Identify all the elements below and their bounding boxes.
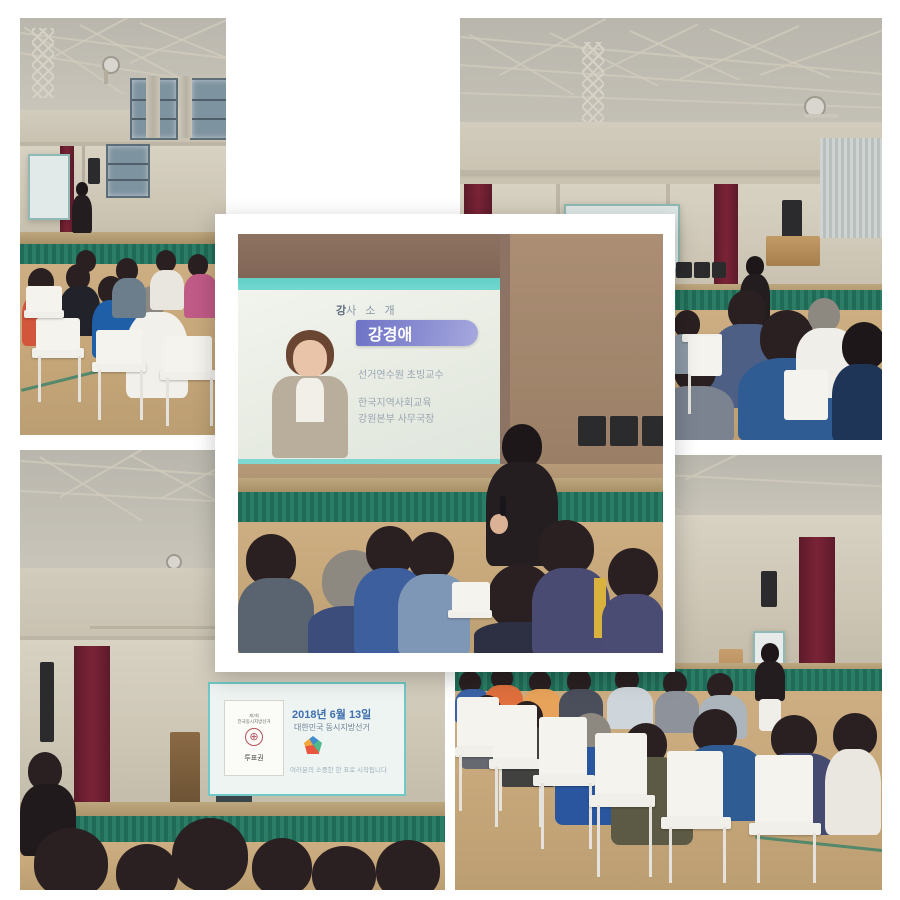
ballot-voting-label: 투표권 [244, 753, 263, 763]
stage-chair [642, 416, 663, 446]
gym-scene-top-left [20, 18, 226, 435]
audience-head [842, 322, 882, 370]
chair-leg [78, 356, 81, 402]
slide-heading-rest: 사 소 개 [346, 305, 397, 317]
upper-wall [460, 122, 882, 184]
folding-chair-back [595, 733, 647, 799]
folding-chair-back [452, 582, 490, 612]
audience-body [112, 278, 146, 318]
folding-chair-back [539, 717, 587, 779]
audience-body [825, 749, 881, 835]
chair-leg [589, 783, 592, 849]
lecturer-portrait-photo [268, 330, 350, 458]
presenter-head [761, 643, 779, 663]
chair-leg [649, 805, 652, 877]
podium [766, 236, 820, 266]
lecturer-name-chip: 강경애 [356, 320, 478, 346]
presenter-body [755, 661, 785, 701]
slide-top-band [238, 278, 500, 290]
stage-curtain [74, 646, 110, 816]
projected-slide-ballot: 제7회 전국동시지방선거 ⊕ 투표권 2018년 6월 13일 대한민국 동시지… [208, 682, 406, 796]
folding-chair-back [688, 336, 722, 376]
chair-leg [757, 833, 760, 883]
presenter-head [76, 182, 88, 196]
chair-leg [210, 378, 213, 426]
ballot-card-graphic: 제7회 전국동시지방선거 ⊕ 투표권 [224, 700, 284, 776]
slide-footer-text: 여러분의 소중한 한 표로 시작됩니다 [290, 764, 387, 774]
scissor-lift-mount [32, 28, 54, 98]
chair-leg [38, 356, 41, 402]
chair-leg [688, 374, 691, 414]
chair-leg [495, 767, 498, 827]
scissor-lift-mount [582, 42, 604, 128]
audience-head [188, 254, 208, 276]
folding-chair-back [493, 705, 537, 763]
folding-chair-back [26, 286, 62, 312]
folding-chair-back [96, 330, 142, 364]
projected-slide-speaker-intro: 강사 소 개 강경애 선거연수원 초빙교수 한국지역사회교육 강원본부 사무국장 [238, 278, 500, 464]
audience-body [238, 578, 314, 653]
slide-subtitle-text: 대한민국 동시지방선거 [294, 722, 370, 733]
stage-curtain [799, 537, 835, 667]
window [190, 78, 226, 140]
camera-mount [804, 114, 838, 118]
audience-head [76, 250, 96, 272]
stage-chair [578, 416, 606, 446]
audience-head [808, 298, 840, 332]
stage-chair [712, 262, 726, 278]
presenter-microphone [500, 496, 506, 516]
slide-heading: 강사 소 개 [336, 302, 398, 318]
collage-photo-top-left[interactable]: Audience seated on white folding chairs … [20, 18, 226, 435]
audience-body [602, 594, 663, 653]
lecturer-title-line-3: 강원본부 사무국장 [358, 410, 434, 425]
chair-leg [813, 833, 816, 883]
wall-ledge [460, 170, 882, 174]
stage-platform [238, 478, 663, 492]
pa-speaker [88, 158, 100, 184]
folding-chair-back [755, 755, 813, 827]
folding-chair-back [784, 370, 828, 420]
audience-head [608, 548, 658, 600]
presenter-hand [490, 514, 508, 534]
chair-leg [140, 370, 143, 420]
podium [170, 732, 200, 804]
audience-head [252, 838, 312, 890]
camera-mount [104, 70, 108, 84]
window [106, 144, 150, 198]
presenter-body [72, 195, 92, 233]
portrait-shirt [296, 378, 324, 422]
folding-chair-back [164, 336, 212, 372]
lecturer-title-line-1: 선거연수원 초빙교수 [358, 366, 444, 381]
presenter-head [746, 256, 764, 276]
stage-skirt [238, 492, 663, 522]
chair-leg [459, 755, 462, 811]
slide-heading-first-char: 강 [336, 305, 346, 317]
chair-leg [723, 827, 726, 883]
pa-speaker [40, 662, 54, 742]
window-curtain [180, 76, 192, 138]
chair-leg [541, 783, 544, 849]
projection-screen [28, 154, 70, 220]
audience-head [34, 828, 108, 890]
pa-speaker [761, 571, 777, 607]
audience-body [832, 364, 882, 440]
collage-photo-center[interactable]: 강사 소 개 강경애 선거연수원 초빙교수 한국지역사회교육 강원본부 사무국장 [215, 214, 675, 672]
audience-head [172, 818, 248, 890]
stage-chair [610, 416, 638, 446]
photo-collage: Audience seated on white folding chairs … [0, 0, 900, 900]
lecturer-title-line-2: 한국지역사회교육 [358, 394, 432, 409]
chair-leg [597, 805, 600, 877]
election-commission-logo-icon [304, 736, 322, 754]
election-emblem-icon: ⊕ [245, 728, 263, 746]
chair-leg [98, 370, 101, 420]
stage-chair [676, 262, 692, 278]
audience-body [184, 274, 218, 318]
slide-date-text: 2018년 6월 13일 [292, 706, 371, 722]
folding-chair-back [36, 318, 80, 350]
stage-chair [694, 262, 710, 278]
audience-head [408, 532, 454, 580]
chair-leg [669, 827, 672, 883]
folding-chair-back [667, 751, 723, 821]
stage-platform [20, 232, 226, 244]
window-curtain [146, 76, 160, 138]
center-scene: 강사 소 개 강경애 선거연수원 초빙교수 한국지역사회교육 강원본부 사무국장 [238, 234, 663, 653]
ballot-title-label: 전국동시지방선거 [237, 719, 270, 725]
window-blinds [820, 138, 882, 238]
audience-head [156, 250, 176, 272]
chair-leg [166, 378, 169, 426]
audience-body [150, 270, 184, 310]
portrait-face [293, 340, 327, 378]
